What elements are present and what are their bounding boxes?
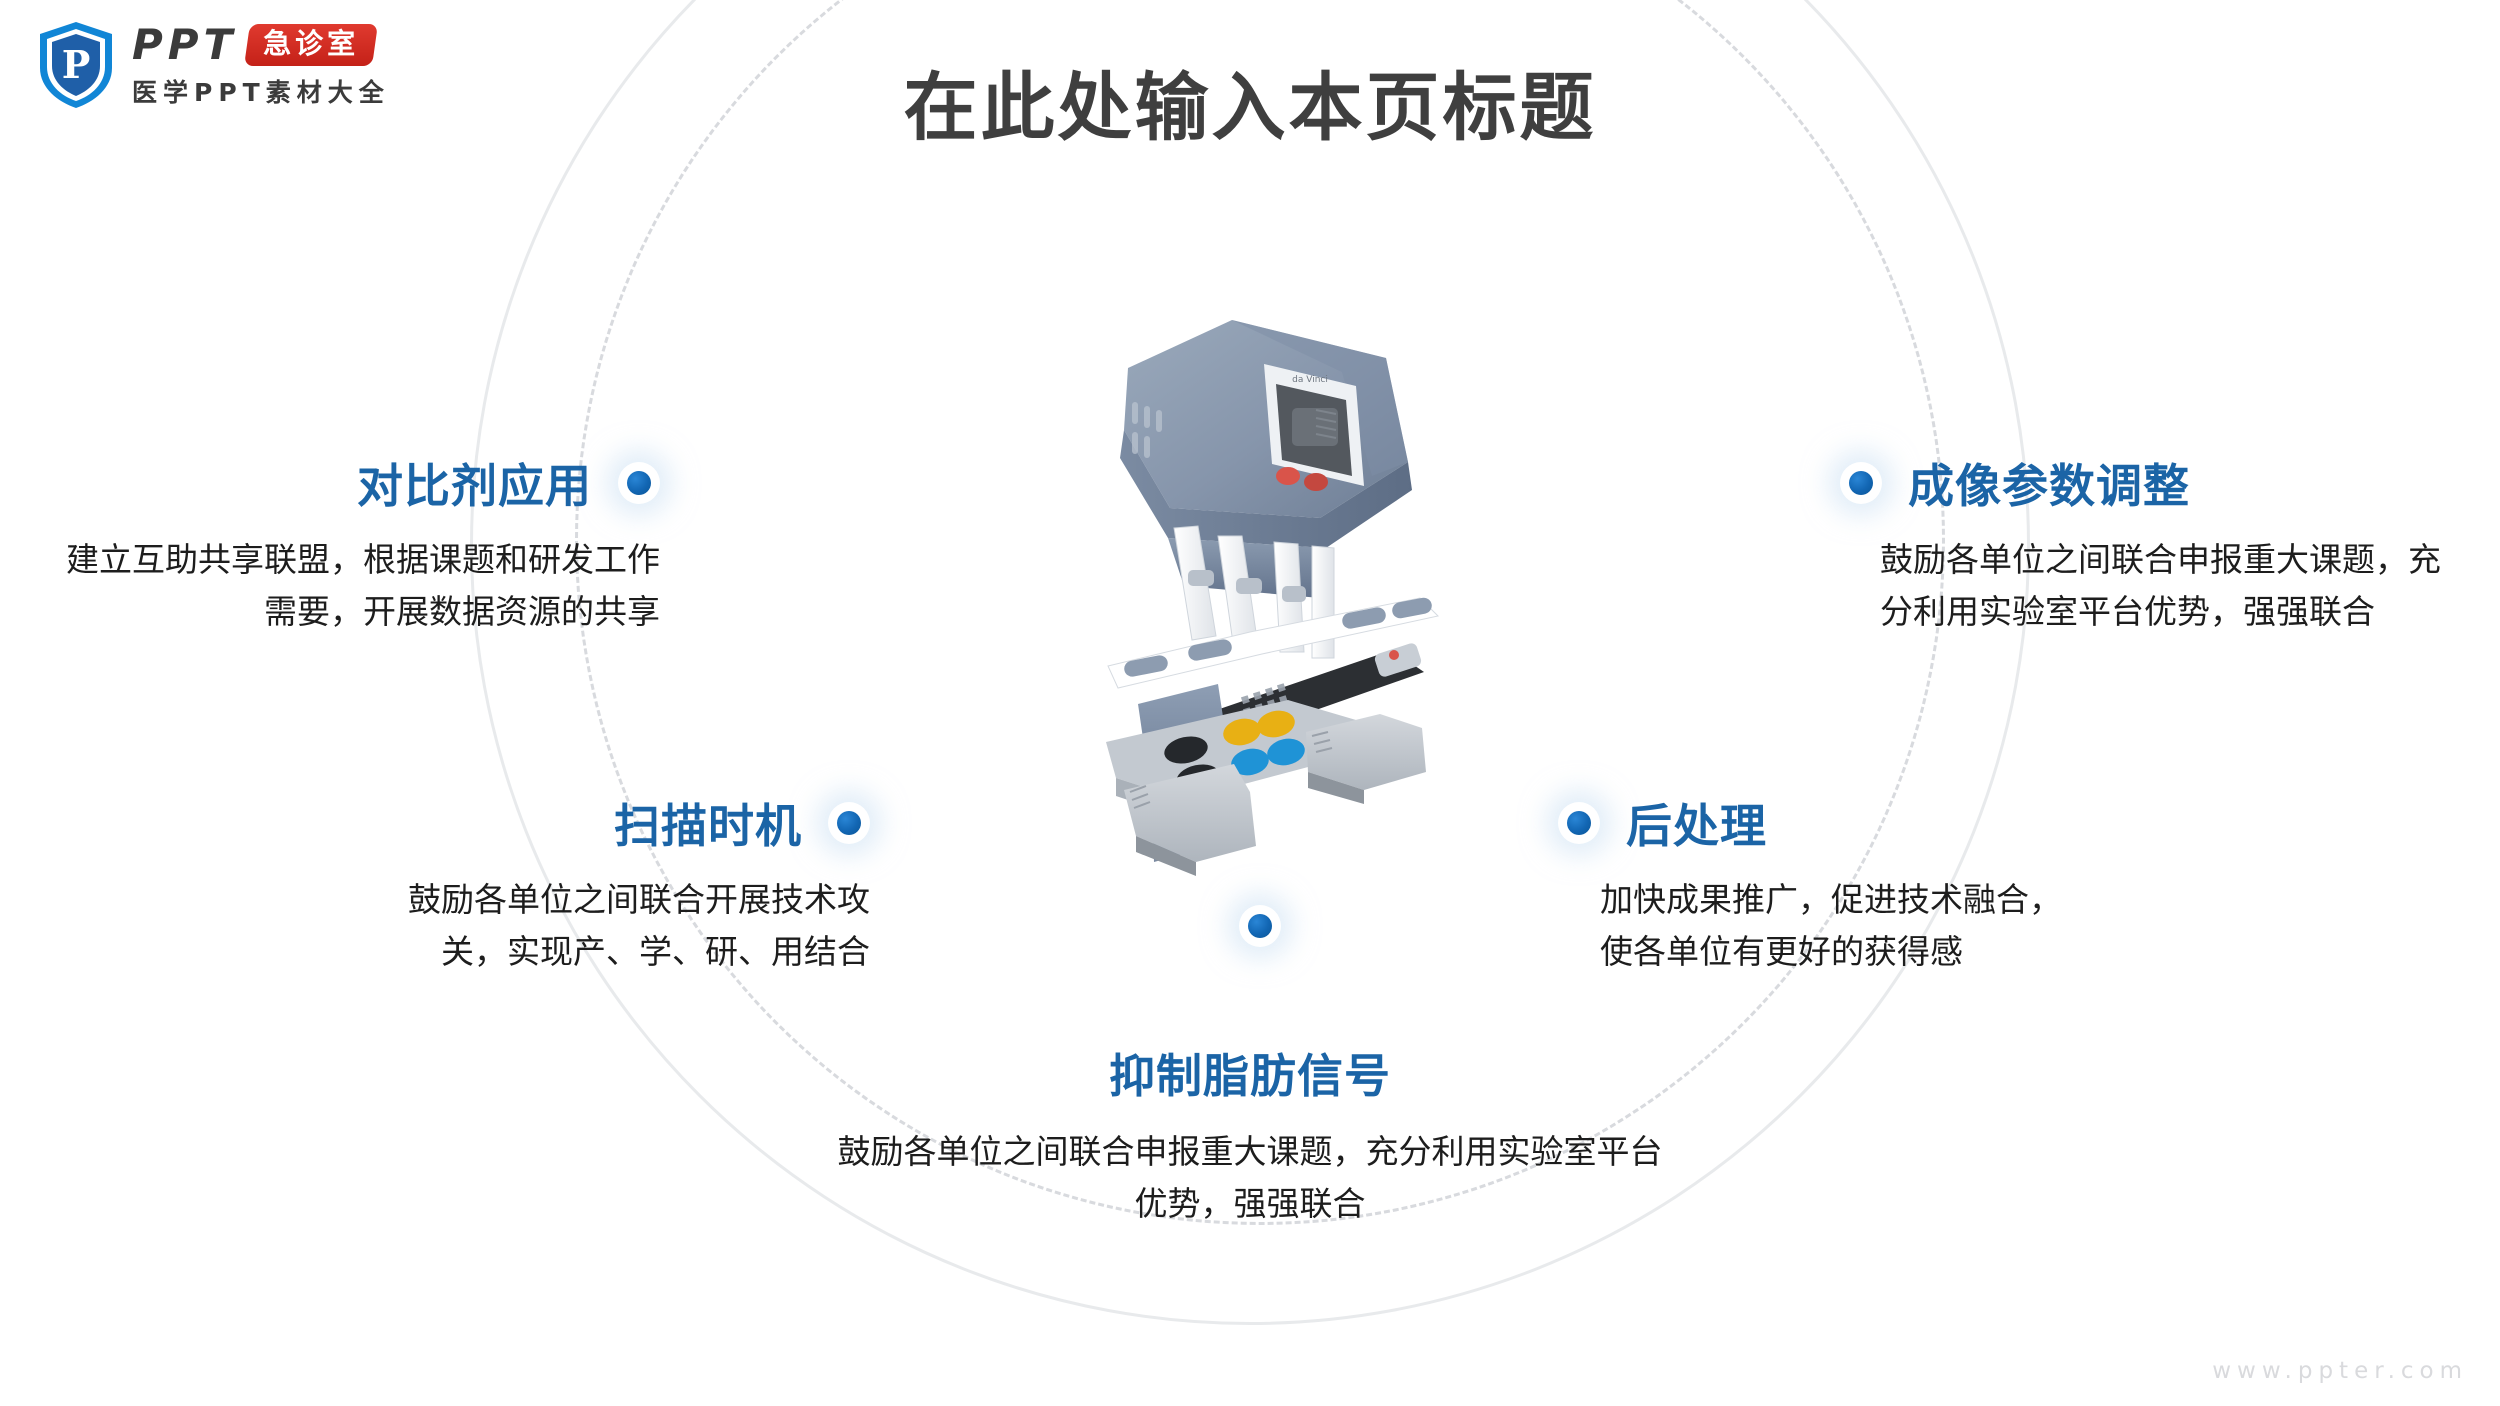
feature-heading: 对比剂应用 <box>60 450 660 516</box>
site-watermark: www.ppter.com <box>2212 1358 2468 1384</box>
node-dot-icon <box>618 462 660 504</box>
feature-heading-text: 成像参数调整 <box>1908 450 2190 516</box>
feature-body-text: 鼓励各单位之间联合开展技术攻关，实现产、学、研、用结合 <box>390 874 870 978</box>
svg-text:da Vinci: da Vinci <box>1292 375 1328 385</box>
node-dot-icon <box>1239 905 1281 947</box>
feature-body-text: 鼓励各单位之间联合申报重大课题，充分利用实验室平台优势，强强联合 <box>1880 534 2460 638</box>
node-dot-icon <box>1558 802 1600 844</box>
feature-heading: 后处理 <box>1558 790 2080 856</box>
feature-heading-text: 扫描时机 <box>614 790 802 856</box>
feature-body-text: 建立互助共享联盟，根据课题和研发工作需要，开展数据资源的共享 <box>60 534 660 638</box>
feature-heading: 成像参数调整 <box>1840 450 2460 516</box>
feature-heading-text: 抑制脂肪信号 <box>1109 1040 1391 1106</box>
node-dot-icon <box>828 802 870 844</box>
feature-item-scan: 扫描时机 鼓励各单位之间联合开展技术攻关，实现产、学、研、用结合 <box>390 790 870 978</box>
feature-body-text: 加快成果推广，促进技术融合，使各单位有更好的获得感 <box>1600 874 2080 978</box>
feature-item-contrast: 对比剂应用 建立互助共享联盟，根据课题和研发工作需要，开展数据资源的共享 <box>60 450 660 638</box>
feature-heading-text: 对比剂应用 <box>357 450 592 516</box>
node-dot-icon <box>1840 462 1882 504</box>
feature-item-imaging: 成像参数调整 鼓励各单位之间联合申报重大课题，充分利用实验室平台优势，强强联合 <box>1880 450 2460 638</box>
feature-body-text: 鼓励各单位之间联合申报重大课题，充分利用实验室平台优势，强强联合 <box>830 1126 1670 1230</box>
page-title: 在此处输入本页标题 <box>0 48 2500 155</box>
da-vinci-surgical-console-image: da Vinci <box>1020 280 1480 880</box>
console-viewer-hood: da Vinci <box>1120 320 1412 598</box>
feature-item-fat-suppression: 抑制脂肪信号 鼓励各单位之间联合申报重大课题，充分利用实验室平台优势，强强联合 <box>830 1040 1670 1230</box>
feature-heading: 抑制脂肪信号 <box>830 1040 1670 1106</box>
feature-item-postprocess: 后处理 加快成果推广，促进技术融合，使各单位有更好的获得感 <box>1600 790 2080 978</box>
feature-heading: 扫描时机 <box>390 790 870 856</box>
slide-canvas: P PPT 急诊室 医学PPT素材大全 在此处输入本页标题 <box>0 0 2500 1406</box>
feature-heading-text: 后处理 <box>1626 790 1767 856</box>
